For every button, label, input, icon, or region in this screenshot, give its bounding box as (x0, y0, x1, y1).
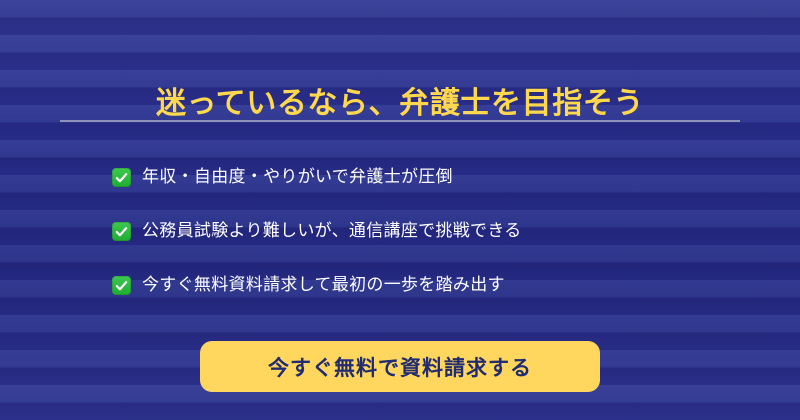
cta-banner: 迷っているなら、弁護士を目指そう 年収・自由度・やりがいで弁護士が圧倒 公務員試… (0, 0, 800, 420)
benefit-text: 年収・自由度・やりがいで弁護士が圧倒 (142, 165, 453, 189)
benefit-text: 今すぐ無料資料請求して最初の一歩を踏み出す (142, 273, 505, 297)
benefit-text: 公務員試験より難しいが、通信講座で挑戦できる (142, 219, 522, 243)
title-divider (60, 120, 740, 122)
list-item: 今すぐ無料資料請求して最初の一歩を踏み出す (112, 265, 732, 305)
check-mark-button-icon (112, 276, 131, 295)
banner-content: 迷っているなら、弁護士を目指そう 年収・自由度・やりがいで弁護士が圧倒 公務員試… (0, 0, 800, 420)
benefit-list: 年収・自由度・やりがいで弁護士が圧倒 公務員試験より難しいが、通信講座で挑戦でき… (112, 157, 732, 319)
list-item: 年収・自由度・やりがいで弁護士が圧倒 (112, 157, 732, 197)
banner-title: 迷っているなら、弁護士を目指そう (0, 84, 800, 124)
list-item: 公務員試験より難しいが、通信講座で挑戦できる (112, 211, 732, 251)
check-mark-button-icon (112, 222, 131, 241)
check-mark-button-icon (112, 168, 131, 187)
request-free-materials-button[interactable]: 今すぐ無料で資料請求する (200, 341, 600, 392)
